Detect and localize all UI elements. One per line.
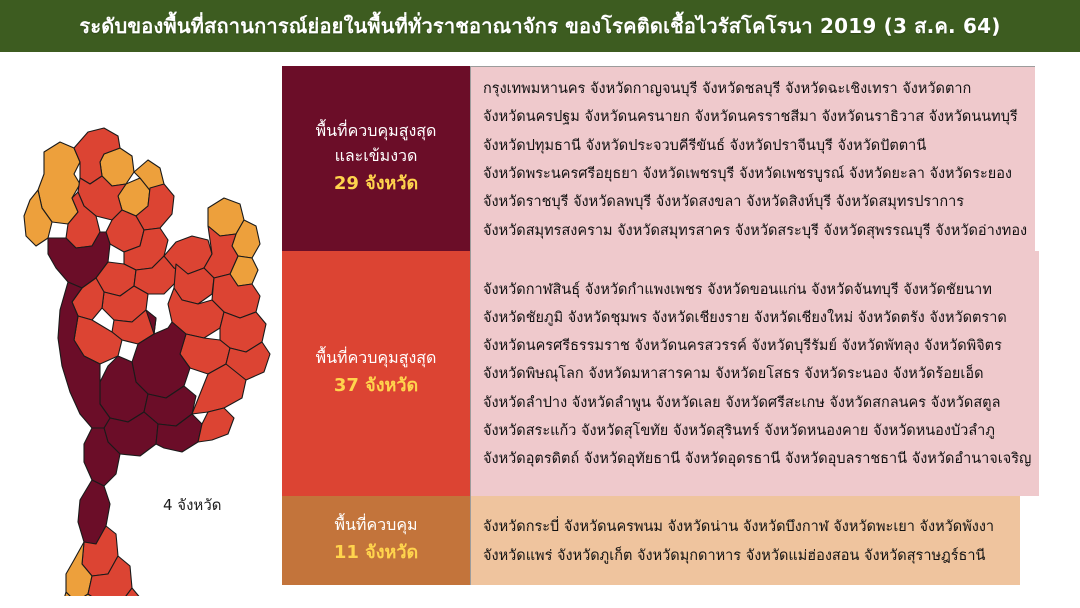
province-list-controlled: จังหวัดกระบี่ จังหวัดนครพนม จังหวัดน่าน … <box>470 496 1020 585</box>
table-row-highest-strict: พื้นที่ควบคุมสูงสุด และเข้มงวด 29 จังหวั… <box>282 66 1020 251</box>
table-row-controlled: พื้นที่ควบคุม 11 จังหวัด จังหวัดกระบี่ จ… <box>282 496 1020 585</box>
province-line: จังหวัดสมุทรสงคราม จังหวัดสมุทรสาคร จังห… <box>483 217 1027 245</box>
table-row-highest: พื้นที่ควบคุมสูงสุด 37 จังหวัด จังหวัดกา… <box>282 251 1020 496</box>
category-label-controlled: พื้นที่ควบคุม 11 จังหวัด <box>282 496 470 585</box>
province-line: จังหวัดกระบี่ จังหวัดนครพนม จังหวัดน่าน … <box>483 513 1012 542</box>
province-line: จังหวัดอุตรดิตถ์ จังหวัดอุทัยธานี จังหวั… <box>483 445 1031 473</box>
province-list-highest-strict: กรุงเทพมหานคร จังหวัดกาญจนบุรี จังหวัดชล… <box>470 66 1035 251</box>
province-line: จังหวัดพิษณุโลก จังหวัดมหาสารคาม จังหวัด… <box>483 360 1031 388</box>
page-header: ระดับของพื้นที่สถานการณ์ย่อยในพื้นที่ทั่… <box>0 0 1080 52</box>
province-line: จังหวัดปทุมธานี จังหวัดประจวบคีรีขันธ์ จ… <box>483 132 1027 160</box>
province-line: กรุงเทพมหานคร จังหวัดกาญจนบุรี จังหวัดชล… <box>483 75 1027 103</box>
category-label-line1: พื้นที่ควบคุม <box>334 513 417 538</box>
category-count: 11 จังหวัด <box>334 539 418 568</box>
category-label-line2: และเข้มงวด <box>335 144 418 169</box>
province-line: จังหวัดพระนครศรีอยุธยา จังหวัดเพชรบุรี จ… <box>483 160 1027 188</box>
category-label-highest-strict: พื้นที่ควบคุมสูงสุด และเข้มงวด 29 จังหวั… <box>282 66 470 251</box>
province-line: จังหวัดลำปาง จังหวัดลำพูน จังหวัดเลย จัง… <box>483 389 1031 417</box>
page-title: ระดับของพื้นที่สถานการณ์ย่อยในพื้นที่ทั่… <box>79 10 1000 42</box>
category-label-line1: พื้นที่ควบคุมสูงสุด <box>316 119 437 144</box>
province-line: จังหวัดแพร่ จังหวัดภูเก็ต จังหวัดมุกดาหา… <box>483 542 1012 571</box>
category-count: 37 จังหวัด <box>334 372 418 401</box>
severity-level-table: พื้นที่ควบคุมสูงสุด และเข้มงวด 29 จังหวั… <box>282 66 1020 585</box>
province-line: จังหวัดราชบุรี จังหวัดลพบุรี จังหวัดสงขล… <box>483 188 1027 216</box>
province-line: จังหวัดชัยภูมิ จังหวัดชุมพร จังหวัดเชียง… <box>483 304 1031 332</box>
province-line: จังหวัดนครปฐม จังหวัดนครนายก จังหวัดนครร… <box>483 103 1027 131</box>
category-label-highest: พื้นที่ควบคุมสูงสุด 37 จังหวัด <box>282 251 470 496</box>
province-line: จังหวัดนครศรีธรรมราช จังหวัดนครสวรรค์ จั… <box>483 332 1031 360</box>
province-line: จังหวัดสระแก้ว จังหวัดสุโขทัย จังหวัดสุร… <box>483 417 1031 445</box>
map-panel: 4 จังหวัด <box>0 52 282 608</box>
province-line: จังหวัดกาฬสินธุ์ จังหวัดกำแพงเพชร จังหวั… <box>483 276 1031 304</box>
category-label-line1: พื้นที่ควบคุมสูงสุด <box>316 346 437 371</box>
province-list-highest: จังหวัดกาฬสินธุ์ จังหวัดกำแพงเพชร จังหวั… <box>470 251 1039 496</box>
map-annotation-label: 4 จังหวัด <box>163 493 221 517</box>
thailand-choropleth-map <box>8 56 274 596</box>
category-count: 29 จังหวัด <box>334 170 418 199</box>
